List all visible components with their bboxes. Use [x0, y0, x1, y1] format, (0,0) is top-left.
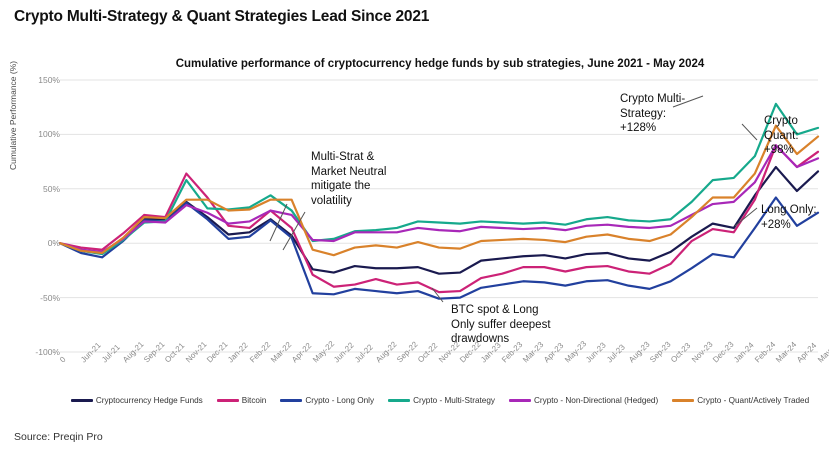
- legend-item[interactable]: Bitcoin: [217, 396, 267, 405]
- plot-lines: [0, 0, 829, 453]
- quant-callout: Crypto Quant: +98%: [764, 114, 799, 158]
- y-tick-label: 0%: [18, 238, 60, 248]
- y-tick-label: 150%: [18, 75, 60, 85]
- legend-item[interactable]: Crypto - Multi-Strategy: [388, 396, 495, 405]
- chart-legend: Cryptocurrency Hedge FundsBitcoinCrypto …: [55, 396, 825, 405]
- chart-area: Cumulative Performance (%) 150%100%50%0%…: [0, 0, 829, 453]
- y-tick-label: -50%: [18, 293, 60, 303]
- legend-swatch: [509, 399, 531, 402]
- y-axis-ticks: 150%100%50%0%-50%-100%: [0, 0, 60, 453]
- legend-label: Crypto - Multi-Strategy: [413, 396, 495, 405]
- y-tick-label: 100%: [18, 129, 60, 139]
- legend-swatch: [672, 399, 694, 402]
- legend-swatch: [217, 399, 239, 402]
- annotation-leader-line: [742, 124, 757, 140]
- legend-swatch: [388, 399, 410, 402]
- legend-swatch: [280, 399, 302, 402]
- legend-item[interactable]: Crypto - Quant/Actively Traded: [672, 396, 809, 405]
- y-tick-label: 50%: [18, 184, 60, 194]
- legend-label: Crypto - Non-Directional (Hedged): [534, 396, 658, 405]
- series-line: [60, 104, 818, 254]
- legend-item[interactable]: Cryptocurrency Hedge Funds: [71, 396, 203, 405]
- y-tick-label: -100%: [18, 347, 60, 357]
- legend-label: Crypto - Quant/Actively Traded: [697, 396, 809, 405]
- legend-label: Bitcoin: [242, 396, 267, 405]
- series-line: [60, 145, 818, 292]
- long-only-callout: Long Only: +28%: [761, 203, 817, 232]
- legend-label: Crypto - Long Only: [305, 396, 374, 405]
- drawdown-note: BTC spot & Long Only suffer deepest draw…: [451, 303, 551, 347]
- legend-swatch: [71, 399, 93, 402]
- legend-label: Cryptocurrency Hedge Funds: [96, 396, 203, 405]
- annotation-leader-line: [432, 288, 443, 302]
- legend-item[interactable]: Crypto - Non-Directional (Hedged): [509, 396, 658, 405]
- source-note: Source: Preqin Pro: [14, 431, 103, 443]
- series-line: [60, 167, 818, 274]
- multi-strat-note: Multi-Strat & Market Neutral mitigate th…: [311, 150, 386, 208]
- multi-strategy-callout: Crypto Multi- Strategy: +128%: [620, 92, 685, 136]
- legend-item[interactable]: Crypto - Long Only: [280, 396, 374, 405]
- series-line: [60, 126, 818, 255]
